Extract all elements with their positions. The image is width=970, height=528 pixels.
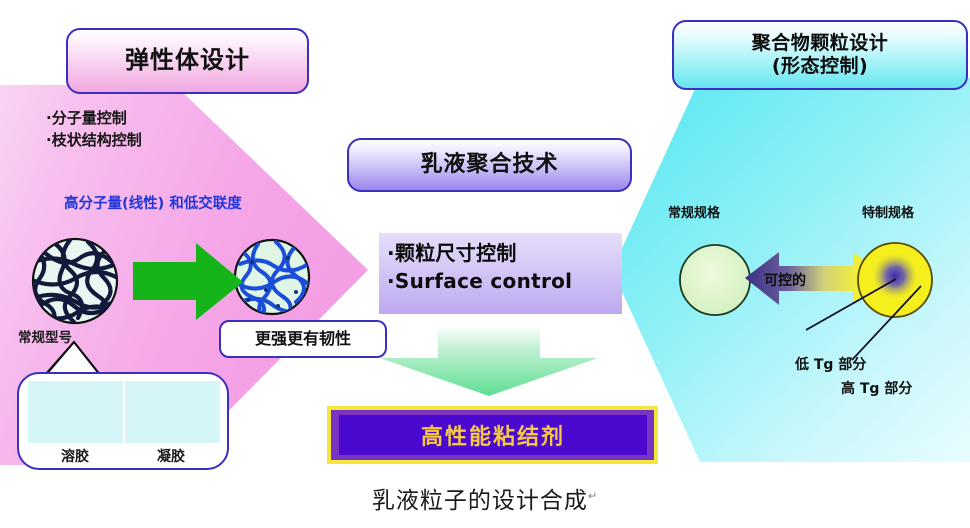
middle-bullets-panel: ·颗粒尺寸控制 ·Surface control — [379, 233, 622, 314]
sol-label: 溶胶 — [27, 446, 123, 466]
middle-bullet-1: ·Surface control — [387, 268, 622, 296]
right-panel-title-line1: 聚合物颗粒设计 — [752, 32, 889, 55]
sol-gel-panels — [28, 381, 220, 443]
down-arrow-green — [380, 325, 598, 396]
tougher-callout-box[interactable]: 更强更有韧性 — [219, 320, 387, 358]
controllable-arrow-label: 可控的 — [764, 270, 806, 290]
slide-canvas: 弹性体设计 ·分子量控制 ·枝状结构控制 高分子量(线性) 和低交联度 常规型号… — [0, 0, 970, 528]
left-bullet-1: ·枝状结构控制 — [46, 130, 142, 152]
label-standard-spec: 常规规格 — [668, 202, 720, 221]
left-panel-bullets: ·分子量控制 ·枝状结构控制 — [46, 108, 142, 152]
middle-panel-title[interactable]: 乳液聚合技术 — [347, 138, 632, 192]
gel-panel — [125, 381, 220, 443]
label-conventional-model: 常规型号 — [18, 326, 72, 346]
middle-panel-title-text: 乳液聚合技术 — [420, 152, 558, 179]
result-banner-inner: 高性能粘结剂 — [339, 415, 647, 455]
annotation-low-tg: 低 Tg 部分 — [795, 354, 866, 374]
particle-custom-core — [871, 252, 919, 300]
sol-panel — [28, 381, 123, 443]
label-custom-spec: 特制规格 — [862, 202, 914, 221]
gel-label: 凝胶 — [123, 446, 219, 466]
left-blue-note: 高分子量(线性) 和低交联度 — [64, 192, 242, 213]
slide-caption: 乳液粒子的设计合成↵ — [0, 481, 970, 515]
result-banner-text: 高性能粘结剂 — [421, 419, 565, 451]
middle-bullet-0: ·颗粒尺寸控制 — [387, 240, 622, 268]
annotation-high-tg: 高 Tg 部分 — [841, 378, 912, 398]
paragraph-mark: ↵ — [588, 489, 598, 502]
tougher-callout-text: 更强更有韧性 — [255, 329, 351, 349]
result-banner[interactable]: 高性能粘结剂 — [327, 406, 658, 464]
sol-gel-callout[interactable]: 溶胶 凝胶 — [17, 372, 229, 470]
left-panel-title[interactable]: 弹性体设计 — [66, 28, 309, 94]
right-panel-title[interactable]: 聚合物颗粒设计 (形态控制) — [672, 20, 968, 90]
left-bullet-0: ·分子量控制 — [46, 108, 142, 130]
slide-caption-text: 乳液粒子的设计合成 — [372, 488, 588, 514]
right-panel-title-line2: (形态控制) — [772, 55, 868, 78]
particle-standard — [680, 245, 750, 315]
left-panel-title-text: 弹性体设计 — [125, 46, 250, 75]
